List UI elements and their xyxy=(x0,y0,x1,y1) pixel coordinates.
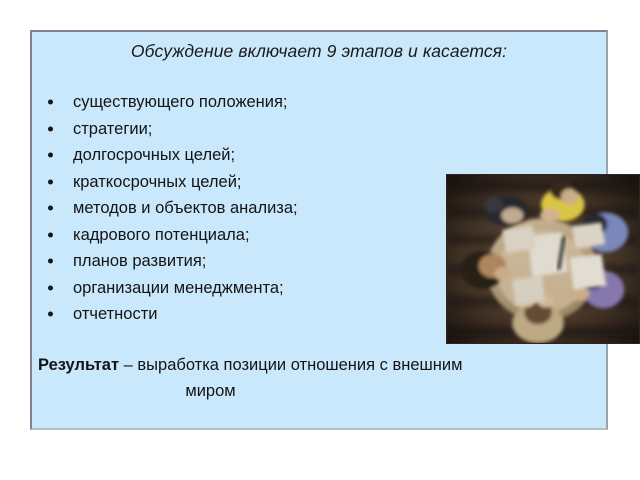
list-item: планов развития; xyxy=(41,248,298,275)
list-item-label: организации менеджмента; xyxy=(73,278,284,298)
bullet-dot-icon xyxy=(48,259,53,264)
list-item-label: отчетности xyxy=(73,304,157,324)
bullet-dot-icon xyxy=(48,153,53,158)
result-block: Результат – выработка позиции отношения … xyxy=(38,352,598,404)
bullet-dot-icon xyxy=(48,126,53,131)
bullet-dot-icon xyxy=(48,100,53,105)
bullet-dot-icon xyxy=(48,206,53,211)
result-line-primary: Результат – выработка позиции отношения … xyxy=(38,352,598,378)
bullet-dot-icon xyxy=(48,285,53,290)
list-item: стратегии; xyxy=(41,116,298,143)
meeting-photo-illustration xyxy=(447,175,639,343)
content-panel: Обсуждение включает 9 этапов и касается:… xyxy=(30,30,608,430)
list-item-label: долгосрочных целей; xyxy=(73,145,235,165)
list-item: кадрового потенциала; xyxy=(41,222,298,249)
result-line-secondary: миром xyxy=(38,378,383,404)
slide-title: Обсуждение включает 9 этапов и касается: xyxy=(32,40,606,62)
bullet-list: существующего положения; стратегии; долг… xyxy=(41,89,298,328)
list-item: методов и объектов анализа; xyxy=(41,195,298,222)
list-item: существующего положения; xyxy=(41,89,298,116)
result-text: – выработка позиции отношения с внешним xyxy=(119,356,462,374)
result-label: Результат xyxy=(38,356,119,374)
list-item-label: кадрового потенциала; xyxy=(73,225,250,245)
list-item-label: существующего положения; xyxy=(73,92,288,112)
slide-canvas: Обсуждение включает 9 этапов и касается:… xyxy=(0,0,640,480)
list-item-label: методов и объектов анализа; xyxy=(73,198,298,218)
bullet-dot-icon xyxy=(48,312,53,317)
list-item-label: стратегии; xyxy=(73,119,152,139)
list-item: организации менеджмента; xyxy=(41,275,298,302)
bullet-dot-icon xyxy=(48,232,53,237)
bullet-dot-icon xyxy=(48,179,53,184)
list-item: краткосрочных целей; xyxy=(41,169,298,196)
meeting-photo xyxy=(446,174,640,344)
list-item: долгосрочных целей; xyxy=(41,142,298,169)
list-item-label: планов развития; xyxy=(73,251,206,271)
list-item-label: краткосрочных целей; xyxy=(73,172,242,192)
list-item: отчетности xyxy=(41,301,298,328)
